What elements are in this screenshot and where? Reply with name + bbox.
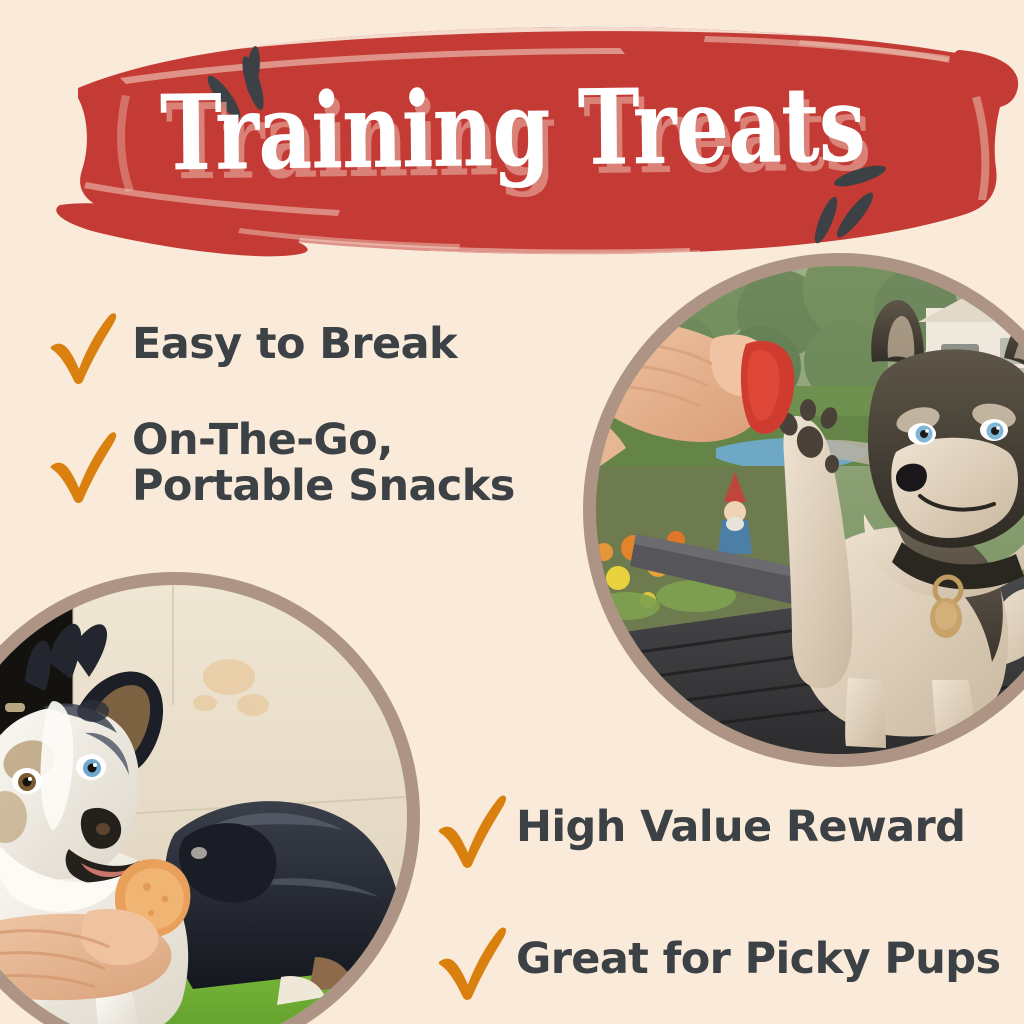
feature-list-top: Easy to Break On-The-Go, Portable Snacks (48, 306, 588, 543)
check-icon (436, 788, 508, 868)
training-treats-poster: Training Treats Easy to Break On-The-Go,… (0, 0, 1024, 1024)
husky-scene-illustration (596, 266, 1024, 754)
check-icon (436, 920, 508, 1000)
feature-list-bottom: High Value Reward Great for Picky Pups (436, 788, 1024, 1024)
check-icon (48, 306, 118, 384)
papillon-treat-photo-image (0, 585, 407, 1024)
feature-label: Great for Picky Pups (516, 937, 1000, 983)
papillon-scene-illustration (0, 585, 407, 1024)
check-icon (48, 425, 118, 503)
husky-paw-photo (583, 253, 1024, 767)
feature-label: High Value Reward (516, 805, 965, 851)
header-banner: Training Treats (0, 0, 1024, 270)
feature-item-high-value-reward: High Value Reward (436, 788, 1024, 868)
feature-item-easy-to-break: Easy to Break (48, 306, 588, 384)
feature-label: Easy to Break (132, 322, 457, 368)
feature-label: On-The-Go, Portable Snacks (132, 418, 515, 509)
feature-item-picky-pups: Great for Picky Pups (436, 920, 1024, 1000)
feature-item-on-the-go: On-The-Go, Portable Snacks (48, 418, 588, 509)
red-brush-stroke-shape (0, 0, 1024, 270)
husky-paw-photo-image (596, 266, 1024, 754)
papillon-treat-photo (0, 572, 420, 1024)
